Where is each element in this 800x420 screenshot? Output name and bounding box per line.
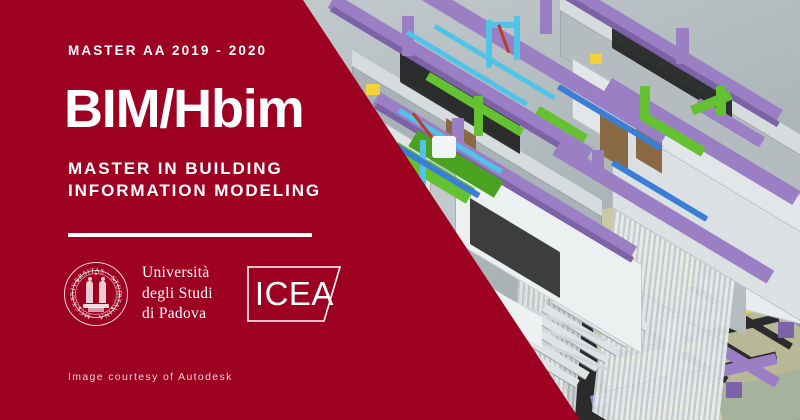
poster-subtitle: MASTER IN BUILDING INFORMATION MODELING (68, 158, 321, 203)
subtitle-line-1: MASTER IN BUILDING (68, 158, 321, 180)
poster-canvas: MASTER AA 2019 - 2020 BIM/Hbim MASTER IN… (0, 0, 800, 420)
subtitle-line-2: INFORMATION MODELING (68, 180, 321, 202)
university-wordmark: Università degli Studi di Padova (142, 263, 213, 324)
marker-yellow (366, 84, 380, 95)
duct-purple-joint (726, 382, 742, 398)
duct-purple-riser (592, 150, 604, 180)
marker-yellow (590, 54, 602, 64)
duct-purple-riser (676, 28, 689, 64)
university-line-1: Università (142, 263, 213, 283)
divider-rule (68, 233, 312, 237)
seal-plaque (88, 307, 104, 312)
seal-figure-left-head (88, 277, 92, 281)
equipment-white (432, 136, 456, 158)
seal-figure-right (99, 281, 106, 303)
seal-figure-right-head (101, 277, 105, 281)
pipe-green (474, 96, 483, 136)
university-line-2: degli Studi (142, 284, 213, 304)
logo-row: UNIVERSITAS · STUDII PATAVINA · MCCXXII … (64, 262, 342, 326)
image-credit: Image courtesy of Autodesk (68, 371, 233, 383)
duct-purple-joint (778, 322, 794, 338)
pipe-green (716, 86, 726, 116)
icea-label: ICEA (255, 274, 333, 314)
poster-content: MASTER AA 2019 - 2020 BIM/Hbim MASTER IN… (0, 0, 360, 420)
pipe-cyan-elbow (486, 22, 520, 28)
university-seal-icon: UNIVERSITAS · STUDII PATAVINA · MCCXXII (64, 262, 128, 326)
university-line-3: di Padova (142, 304, 213, 324)
eyebrow-text: MASTER AA 2019 - 2020 (68, 43, 267, 58)
duct-purple-riser (540, 0, 552, 34)
page-title: BIM/Hbim (64, 82, 303, 136)
icea-logo: ICEA (246, 265, 342, 323)
seal-figure-left (86, 281, 93, 303)
